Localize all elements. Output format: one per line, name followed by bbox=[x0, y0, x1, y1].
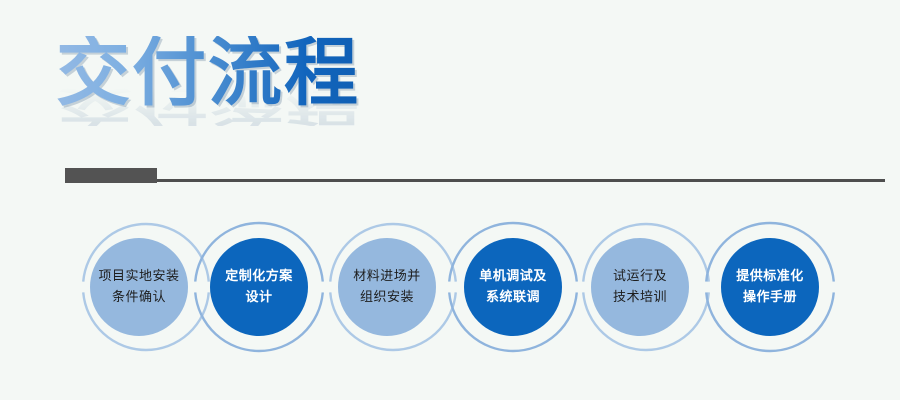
step-circle-2[interactable] bbox=[210, 238, 308, 336]
slide-canvas: 交付流程 交付流程 项目实地安装条件确认定制化方案设计材料进场并组织安装单机调试… bbox=[0, 0, 900, 400]
step-circle-6[interactable] bbox=[721, 238, 819, 336]
divider-accent-block bbox=[65, 168, 157, 183]
flow-shapes bbox=[0, 200, 900, 390]
step-circle-3[interactable] bbox=[338, 238, 436, 336]
divider-line bbox=[65, 179, 885, 182]
step-circle-1[interactable] bbox=[90, 238, 188, 336]
step-circle-5[interactable] bbox=[591, 238, 689, 336]
page-title: 交付流程 bbox=[56, 36, 360, 110]
title-block: 交付流程 交付流程 bbox=[56, 36, 476, 156]
step-circle-4[interactable] bbox=[464, 238, 562, 336]
divider bbox=[65, 168, 885, 184]
delivery-process-flow: 项目实地安装条件确认定制化方案设计材料进场并组织安装单机调试及系统联调试运行及技… bbox=[0, 200, 900, 390]
